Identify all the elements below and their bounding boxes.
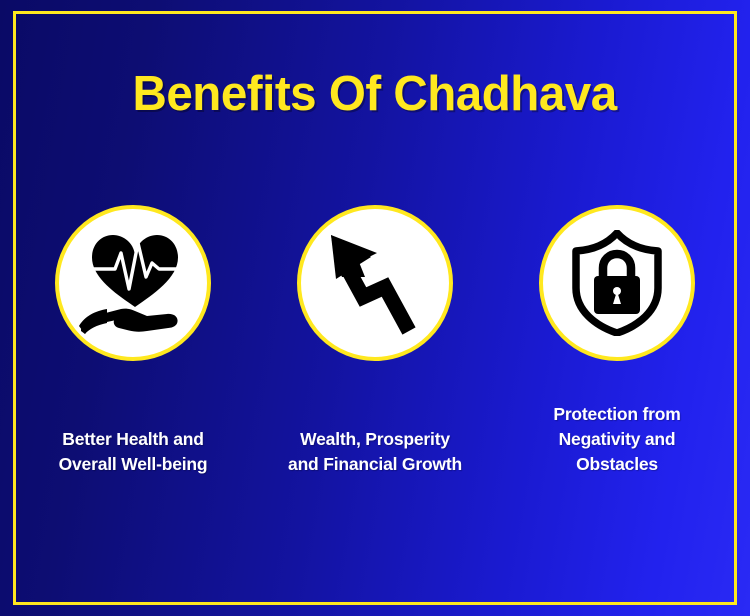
infographic-poster: Benefits Of Chadhava B bbox=[0, 0, 750, 616]
upward-growth-arrow-icon bbox=[325, 231, 425, 335]
benefit-caption-wealth: Wealth, Prosperity and Financial Growth bbox=[262, 427, 488, 477]
benefit-card-protection: Protection from Negativity and Obstacles bbox=[504, 205, 730, 495]
page-title: Benefits Of Chadhava bbox=[133, 66, 617, 122]
caption-line: Overall Well-being bbox=[20, 452, 246, 477]
benefit-card-wealth: Wealth, Prosperity and Financial Growth bbox=[262, 205, 488, 495]
benefit-caption-health: Better Health and Overall Well-being bbox=[20, 427, 246, 477]
icon-circle-wealth bbox=[297, 205, 453, 361]
icon-circle-protection bbox=[539, 205, 695, 361]
caption-line: Protection from bbox=[504, 402, 730, 427]
shield-with-padlock-icon bbox=[567, 230, 667, 336]
caption-line: and Financial Growth bbox=[262, 452, 488, 477]
caption-line: Wealth, Prosperity bbox=[262, 427, 488, 452]
caption-line: Better Health and bbox=[20, 427, 246, 452]
page-title-container: Benefits Of Chadhava bbox=[0, 66, 750, 122]
benefits-row: Better Health and Overall Well-being bbox=[20, 205, 730, 495]
icon-circle-health bbox=[55, 205, 211, 361]
benefit-caption-protection: Protection from Negativity and Obstacles bbox=[504, 402, 730, 477]
benefit-card-health: Better Health and Overall Well-being bbox=[20, 205, 246, 495]
hand-holding-heart-with-heartbeat-icon bbox=[77, 231, 189, 335]
caption-line: Negativity and bbox=[504, 427, 730, 452]
caption-line: Obstacles bbox=[504, 452, 730, 477]
